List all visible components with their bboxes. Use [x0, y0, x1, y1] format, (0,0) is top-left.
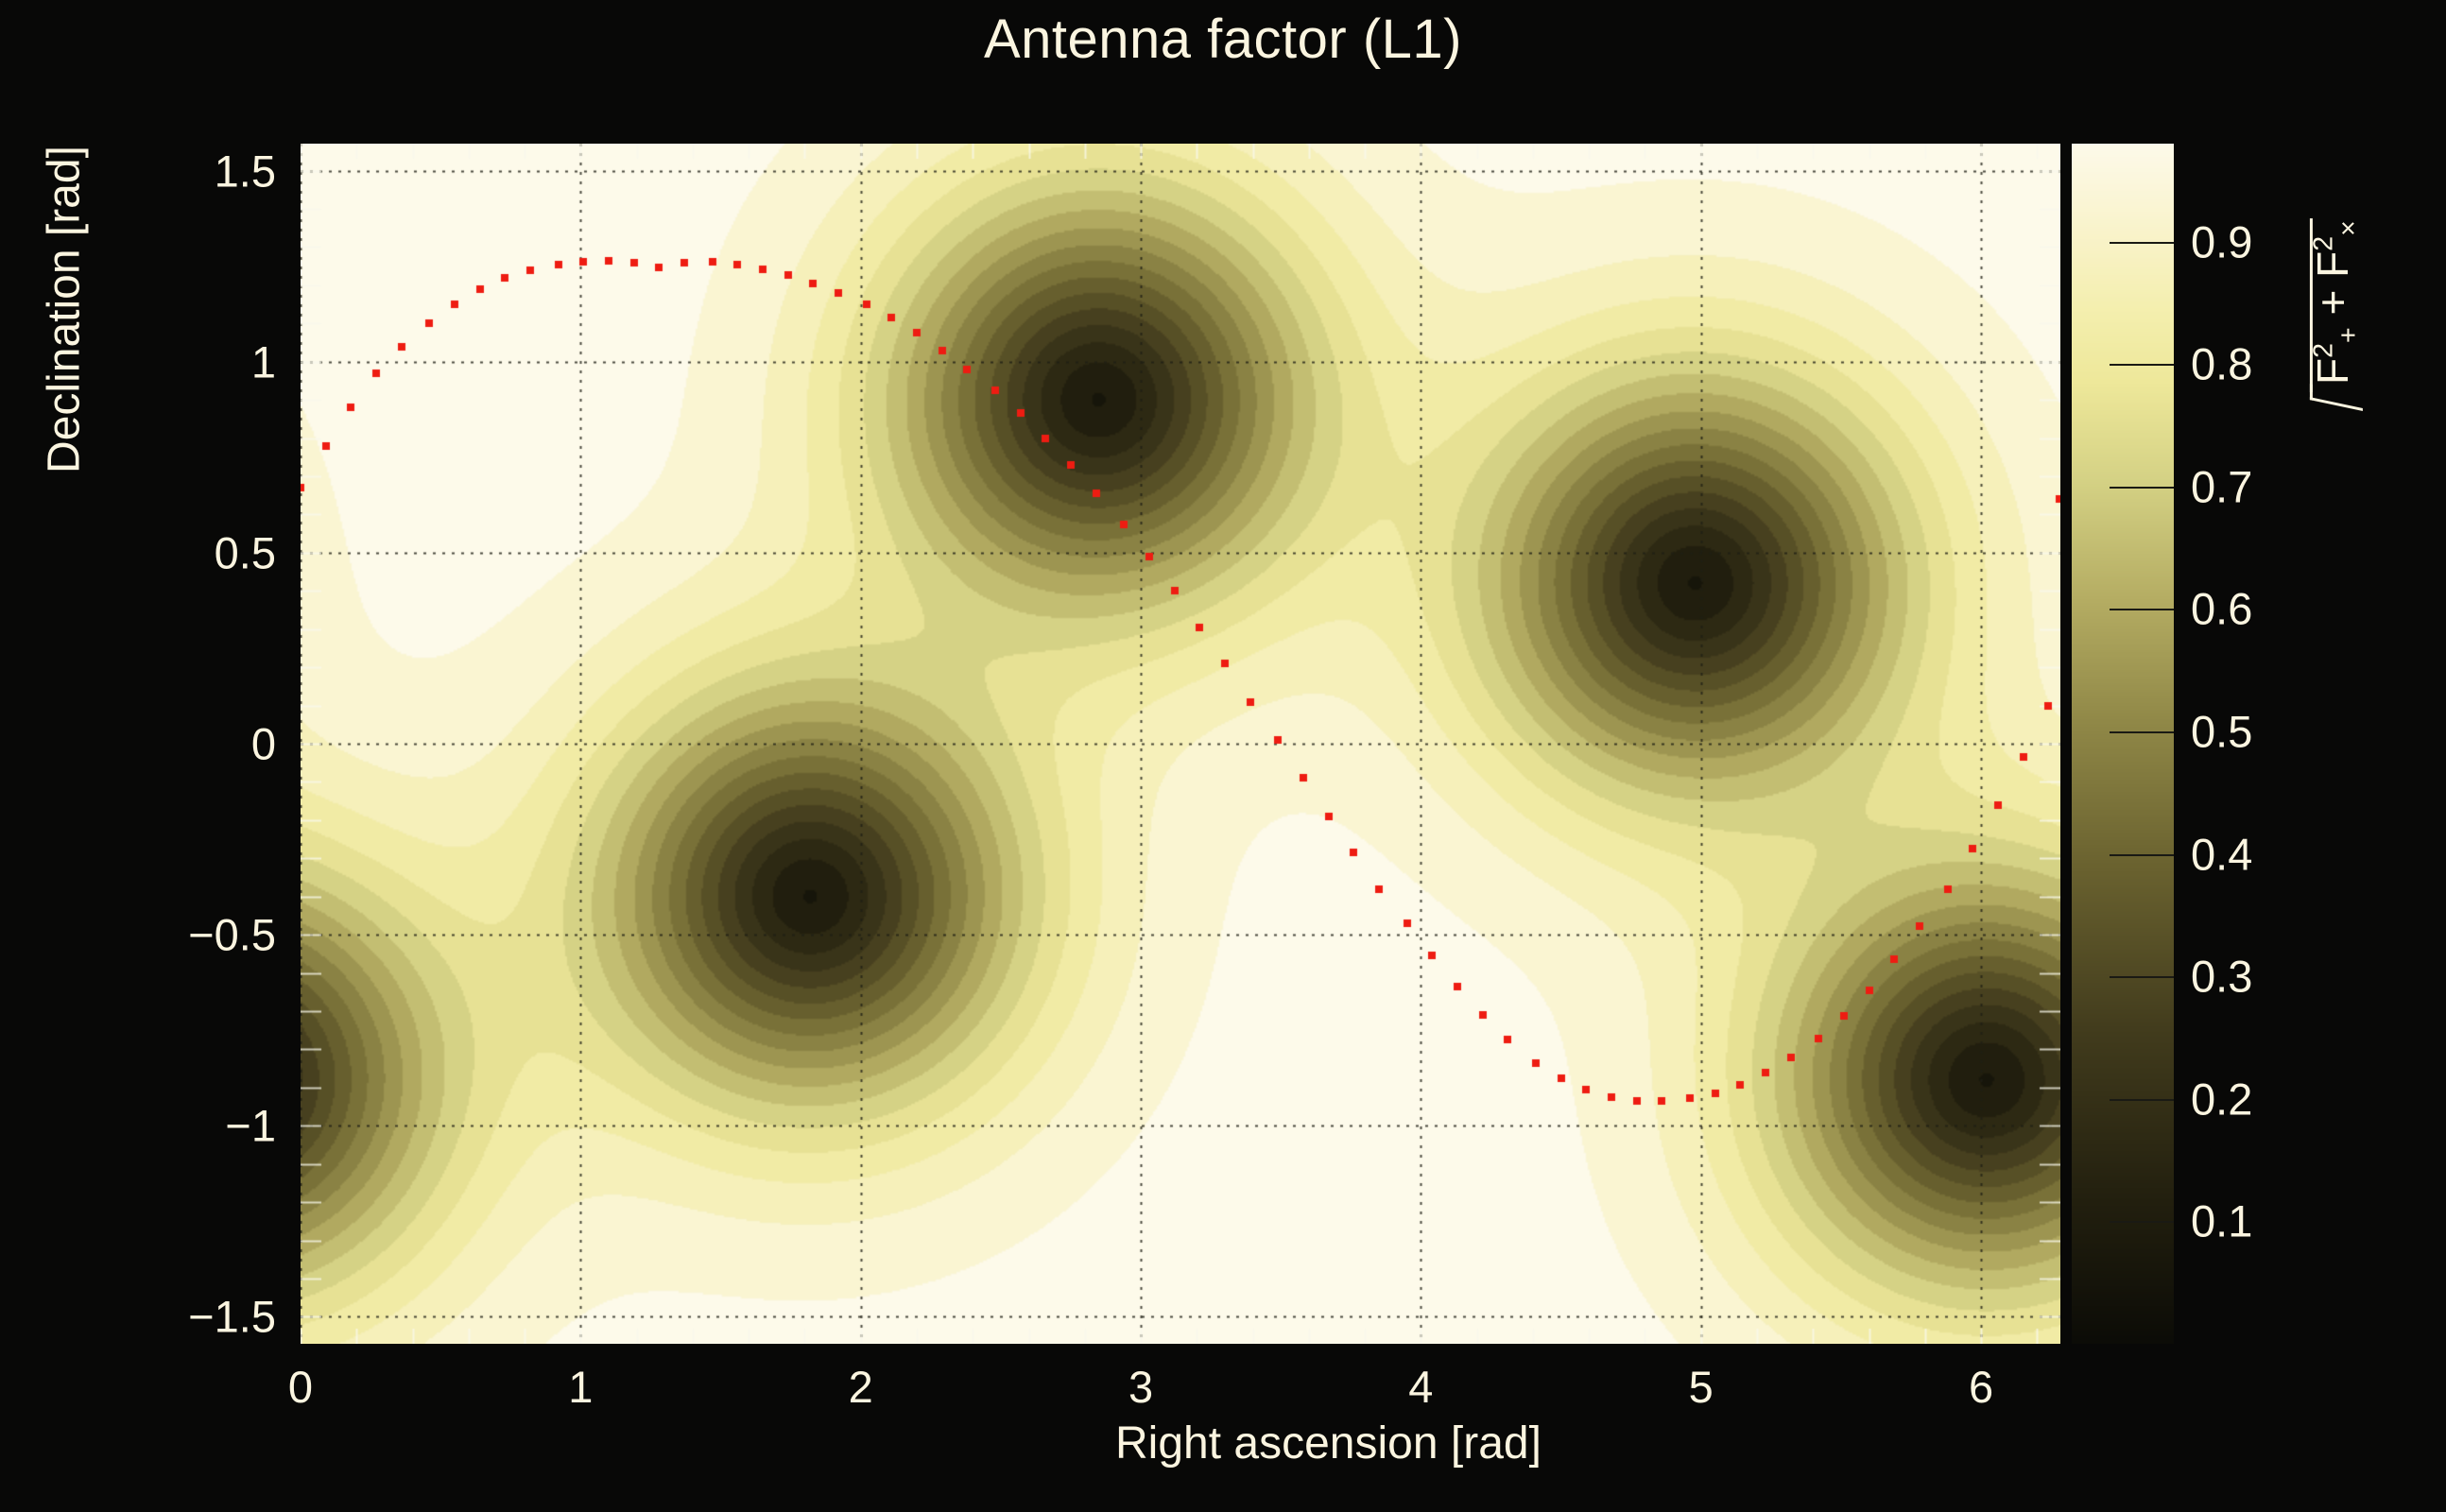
x-axis-tick-label: 3	[1128, 1361, 1153, 1413]
colorbar-tick-label: 0.6	[2191, 583, 2252, 635]
x-axis-tick-label: 1	[568, 1361, 593, 1413]
x-axis-tick-label: 0	[288, 1361, 313, 1413]
y-axis-tick-label: −1.5	[57, 1291, 276, 1343]
colorbar-tick-label: 0.1	[2191, 1195, 2252, 1247]
f-plus-symbol: F	[2308, 358, 2357, 385]
x-axis-tick-label: 5	[1689, 1361, 1714, 1413]
x-axis-tick-label: 2	[849, 1361, 873, 1413]
plus-operator: +	[2308, 290, 2357, 316]
colorbar-tick-label: 0.7	[2191, 460, 2252, 512]
f-cross-exponent: 2	[2309, 236, 2339, 251]
colorbar-tick-mark	[2110, 1221, 2174, 1223]
colorbar-tick-mark	[2110, 364, 2174, 366]
colorbar-tick-mark	[2110, 731, 2174, 733]
y-axis-tick-label: 0	[57, 718, 276, 770]
colorbar-tick-label: 0.3	[2191, 951, 2252, 1003]
f-plus-exponent: 2	[2309, 343, 2339, 358]
colorbar-tick-mark	[2110, 242, 2174, 244]
y-axis-tick-label: −0.5	[57, 909, 276, 961]
colorbar-tick-mark	[2110, 976, 2174, 978]
colorbar-tick-label: 0.4	[2191, 828, 2252, 880]
sqrt-expression: F2+ + F2×	[2304, 220, 2365, 407]
sqrt-overbar	[2310, 218, 2313, 392]
colorbar[interactable]	[2072, 144, 2174, 1344]
colorbar-gradient	[2072, 144, 2174, 1344]
colorbar-tick-mark	[2110, 854, 2174, 856]
f-cross-subscript: ×	[2334, 220, 2364, 236]
colorbar-tick-mark	[2110, 487, 2174, 489]
galactic-plane-overlay	[301, 144, 2060, 1344]
x-axis-title: Right ascension [rad]	[1115, 1417, 2060, 1469]
x-axis-tick-label: 4	[1408, 1361, 1433, 1413]
f-cross-symbol: F	[2308, 251, 2357, 278]
y-axis-title: Declination [rad]	[39, 45, 91, 575]
plot-canvas: Antenna factor (L1) 1.510.50−0.5−1−1.5 0…	[0, 0, 2446, 1512]
colorbar-tick-label: 0.9	[2191, 215, 2252, 267]
y-axis-tick-label: −1	[57, 1100, 276, 1152]
colorbar-title: F2+ + F2×	[2304, 115, 2365, 512]
page-title: Antenna factor (L1)	[0, 8, 2446, 71]
colorbar-tick-label: 0.8	[2191, 338, 2252, 390]
plot-area[interactable]	[301, 144, 2060, 1344]
x-axis-tick-label: 6	[1969, 1361, 1993, 1413]
f-plus-subscript: +	[2334, 327, 2364, 343]
colorbar-tick-mark	[2110, 1099, 2174, 1101]
colorbar-tick-label: 0.5	[2191, 706, 2252, 758]
colorbar-tick-label: 0.2	[2191, 1073, 2252, 1125]
colorbar-tick-mark	[2110, 609, 2174, 610]
